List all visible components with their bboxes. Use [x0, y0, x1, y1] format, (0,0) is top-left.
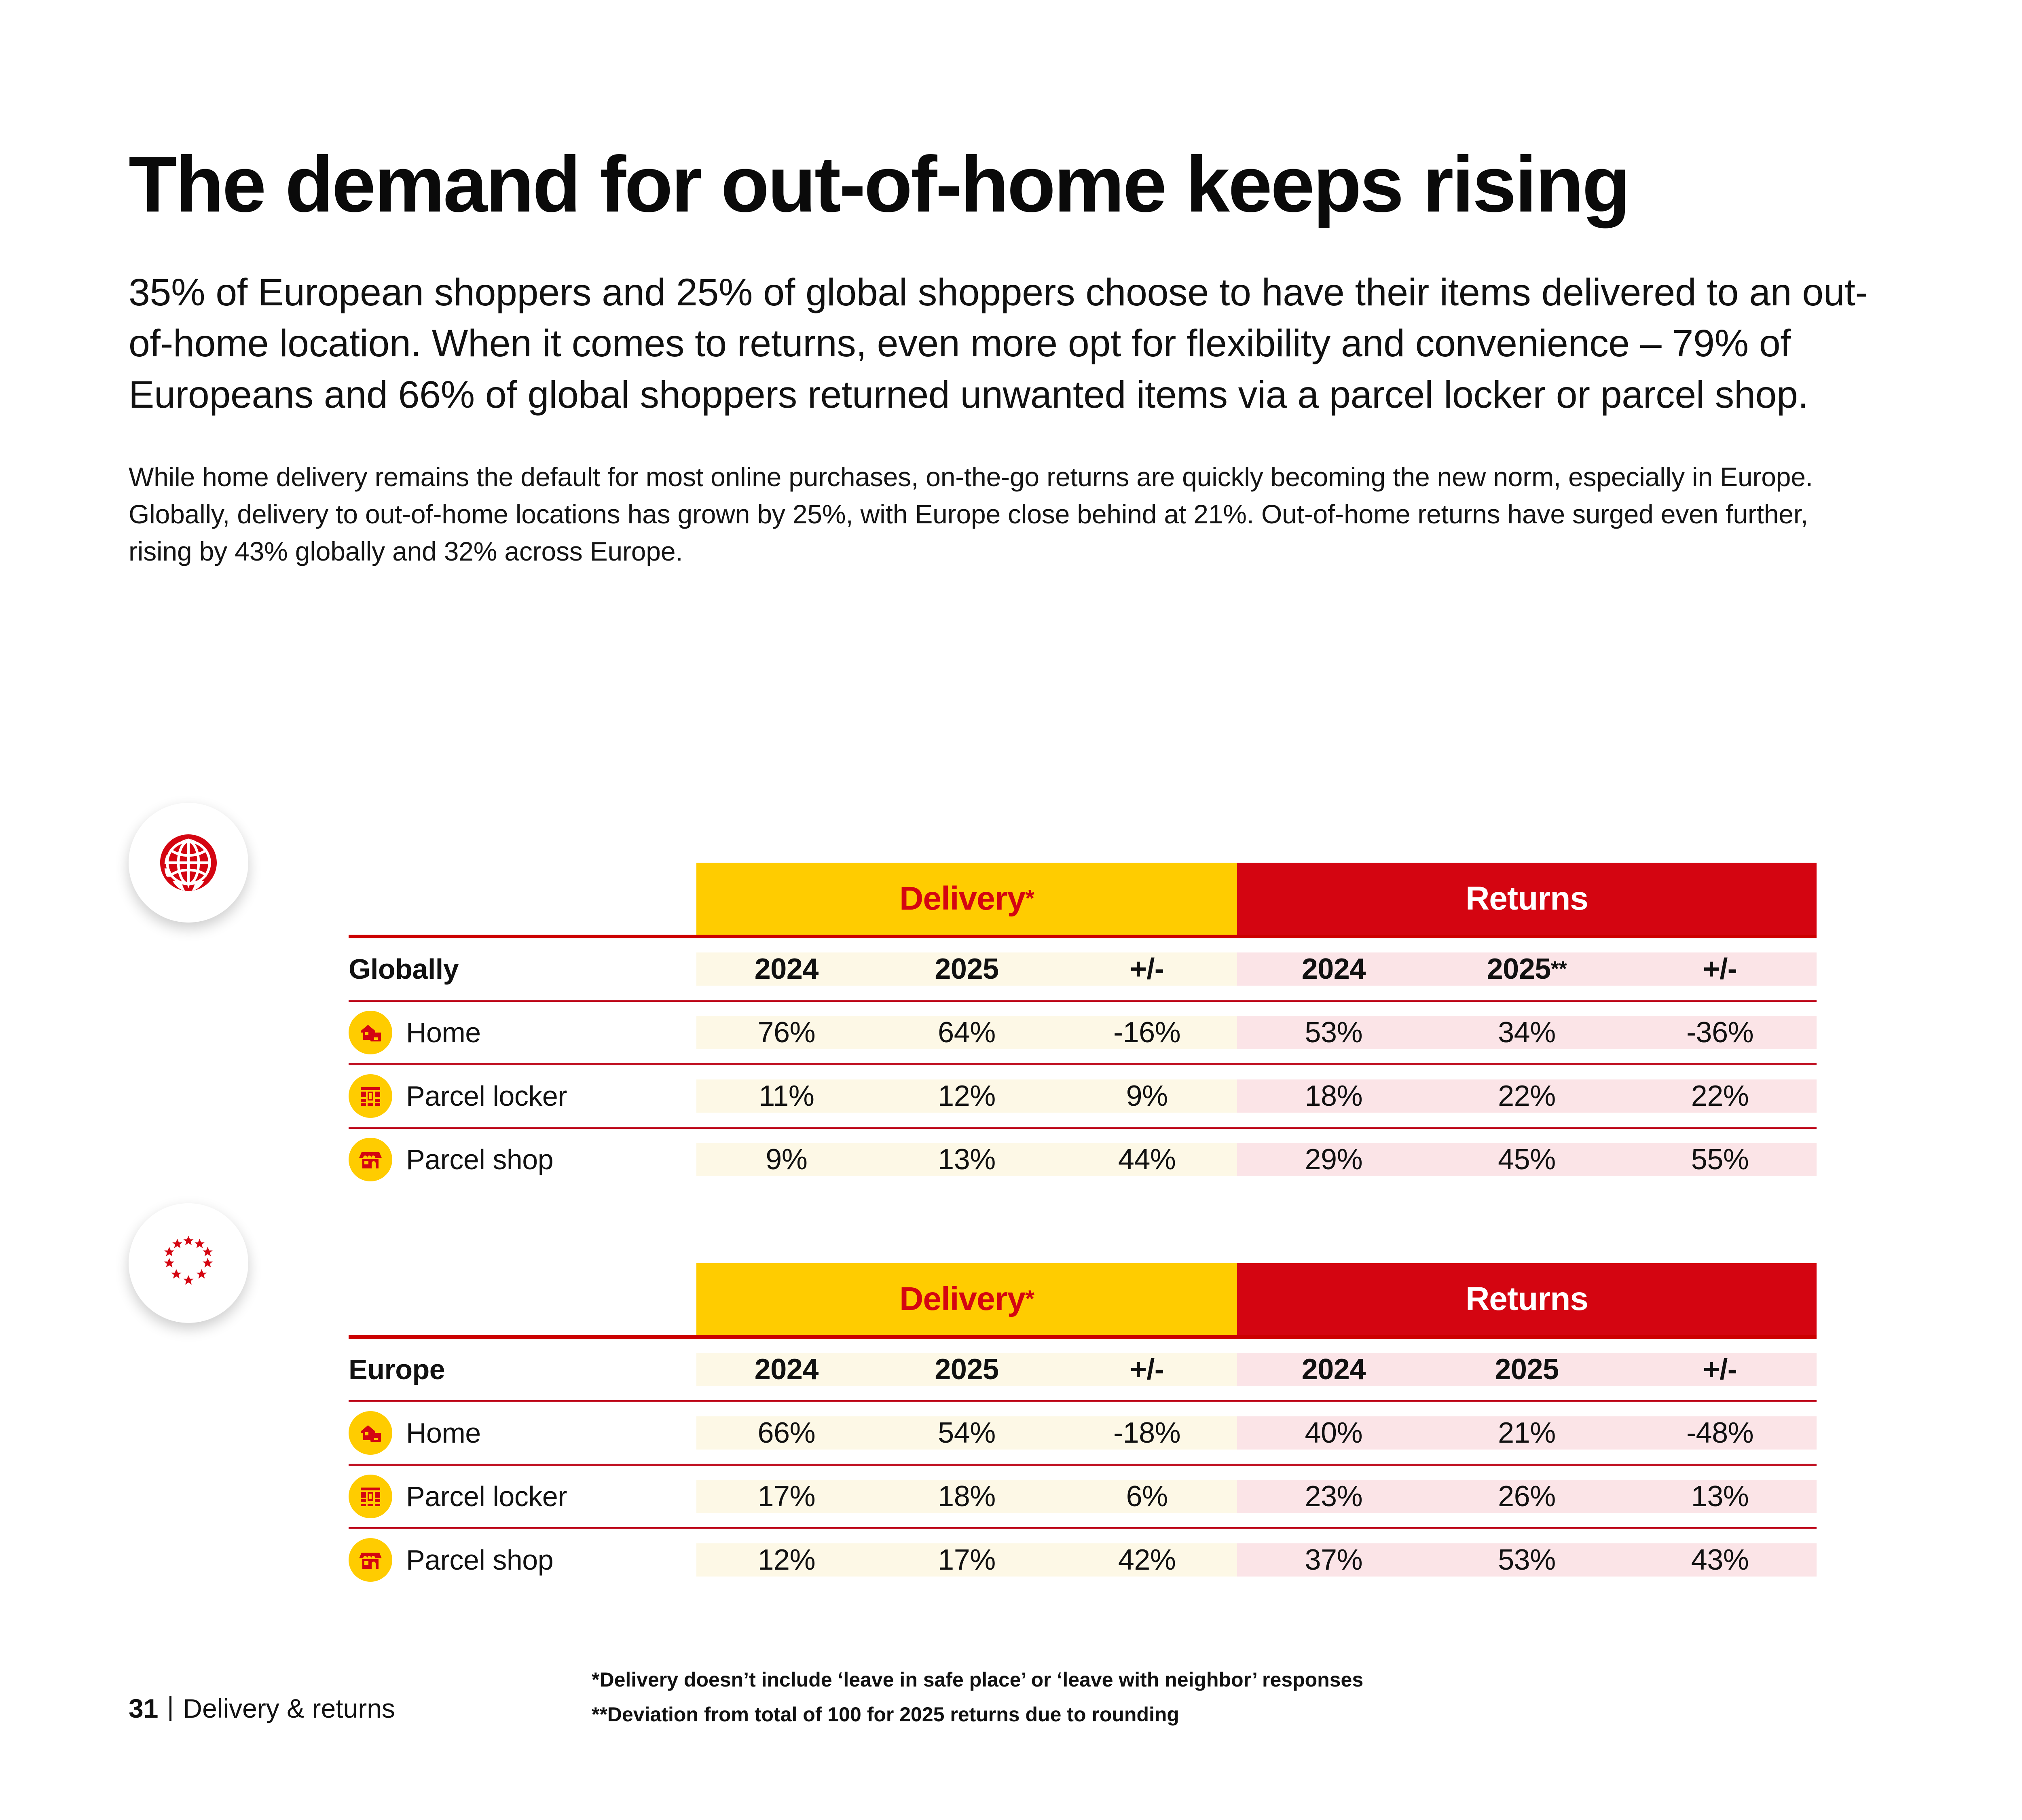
footer-divider [169, 1696, 171, 1721]
delivery-group-header: Delivery * [696, 1263, 1237, 1335]
table-region-label: Globally [349, 953, 459, 985]
left-text-block: The demand for out-of-home keeps rising … [129, 0, 2022, 597]
cell-delivery-2024: 17% [696, 1480, 877, 1513]
global-table: Delivery * Returns Globally 2024 2025 +/… [349, 863, 1817, 1190]
cell-delivery-2024: 11% [696, 1079, 877, 1113]
row-label: Home [406, 1016, 481, 1049]
col-header-delivery-delta: +/- [1057, 1353, 1237, 1386]
row-label-cell: Parcel shop [349, 1538, 696, 1582]
page-title: The demand for out-of-home keeps rising [129, 0, 2022, 224]
cell-delivery-delta: -18% [1057, 1416, 1237, 1450]
cell-returns-delta: -36% [1623, 1016, 1817, 1049]
delivery-group-label: Delivery [899, 1280, 1025, 1318]
footer-left: 31 Delivery & returns [129, 1693, 395, 1724]
cell-returns-delta: -48% [1623, 1416, 1817, 1450]
cell-returns-2024: 40% [1237, 1416, 1430, 1450]
table-group-header-spacer [349, 1263, 696, 1335]
footnote-2: **Deviation from total of 100 for 2025 r… [592, 1697, 1363, 1732]
table-column-header-row: Europe 2024 2025 +/- 2024 2025 +/- [349, 1339, 1817, 1400]
table-top-rule [349, 1335, 1817, 1339]
cell-returns-2024: 18% [1237, 1079, 1430, 1113]
table-column-header-row: Globally 2024 2025 +/- 2024 2025** +/- [349, 938, 1817, 1000]
table-region-label-cell: Europe [349, 1353, 696, 1386]
cell-returns-2025: 45% [1430, 1143, 1624, 1176]
cell-delivery-2024: 9% [696, 1143, 877, 1176]
col-header-returns-2024: 2024 [1237, 952, 1430, 986]
parcel-locker-icon [349, 1475, 392, 1518]
table-group-header-row: Delivery * Returns [349, 863, 1817, 935]
cell-delivery-2025: 13% [877, 1143, 1057, 1176]
cell-returns-delta: 13% [1623, 1480, 1817, 1513]
col-header-delivery-2025: 2025 [877, 1353, 1057, 1386]
cell-delivery-delta: -16% [1057, 1016, 1237, 1049]
row-label-cell: Home [349, 1011, 696, 1054]
row-label: Parcel locker [406, 1080, 567, 1112]
cell-returns-delta: 22% [1623, 1079, 1817, 1113]
table-row: Home 76% 64% -16% 53% 34% -36% [349, 1002, 1817, 1063]
cell-delivery-2025: 54% [877, 1416, 1057, 1450]
globe-icon [129, 803, 248, 923]
eu-stars-icon [129, 1203, 248, 1323]
table-row: Parcel locker 17% 18% 6% 23% 26% 13% [349, 1466, 1817, 1527]
row-label: Parcel locker [406, 1480, 567, 1513]
cell-delivery-delta: 9% [1057, 1079, 1237, 1113]
cell-returns-2024: 53% [1237, 1016, 1430, 1049]
table-row: Home 66% 54% -18% 40% 21% -48% [349, 1402, 1817, 1464]
footnote-1: *Delivery doesn’t include ‘leave in safe… [592, 1662, 1363, 1697]
delivery-group-header: Delivery * [696, 863, 1237, 935]
cell-returns-2025: 26% [1430, 1480, 1624, 1513]
cell-returns-2025: 34% [1430, 1016, 1624, 1049]
left-content-panel: The demand for out-of-home keeps rising … [0, 0, 2022, 1820]
col-header-returns-2024: 2024 [1237, 1353, 1430, 1386]
footer-section-label: Delivery & returns [183, 1693, 395, 1724]
table-top-rule [349, 935, 1817, 938]
page-number: 31 [129, 1693, 158, 1724]
cell-delivery-2025: 18% [877, 1480, 1057, 1513]
table-row: Parcel shop 9% 13% 44% 29% 45% 55% [349, 1129, 1817, 1190]
lede-paragraph: 35% of European shoppers and 25% of glob… [129, 267, 1904, 420]
cell-returns-2025: 21% [1430, 1416, 1624, 1450]
row-label-cell: Home [349, 1411, 696, 1455]
cell-delivery-2025: 12% [877, 1079, 1057, 1113]
col-header-returns-2025-text: 2025 [1487, 952, 1551, 986]
parcel-shop-icon [349, 1138, 392, 1181]
returns-group-header: Returns [1237, 1263, 1817, 1335]
home-parcel-icon [349, 1011, 392, 1054]
table-region-label: Europe [349, 1353, 445, 1386]
cell-delivery-delta: 6% [1057, 1480, 1237, 1513]
col-header-returns-delta: +/- [1623, 1353, 1817, 1386]
slide-page: The demand for out-of-home keeps rising … [0, 0, 2022, 1820]
row-label-cell: Parcel locker [349, 1475, 696, 1518]
row-label-cell: Parcel shop [349, 1138, 696, 1181]
cell-returns-delta: 55% [1623, 1143, 1817, 1176]
table-row: Parcel shop 12% 17% 42% 37% 53% 43% [349, 1529, 1817, 1591]
col-header-returns-2025: 2025** [1430, 952, 1624, 986]
table-group-header-row: Delivery * Returns [349, 1263, 1817, 1335]
cell-delivery-2024: 76% [696, 1016, 877, 1049]
col-header-delivery-delta: +/- [1057, 952, 1237, 986]
row-label: Parcel shop [406, 1143, 553, 1176]
cell-returns-2025: 53% [1430, 1543, 1624, 1577]
cell-delivery-delta: 44% [1057, 1143, 1237, 1176]
col-header-returns-delta: +/- [1623, 952, 1817, 986]
returns-group-label: Returns [1466, 880, 1588, 918]
col-header-delivery-2025: 2025 [877, 952, 1057, 986]
cell-delivery-2024: 12% [696, 1543, 877, 1577]
cell-returns-delta: 43% [1623, 1543, 1817, 1577]
row-label: Parcel shop [406, 1544, 553, 1576]
footnotes: *Delivery doesn’t include ‘leave in safe… [592, 1662, 1363, 1732]
europe-table: Delivery * Returns Europe 2024 2025 +/- … [349, 1263, 1817, 1591]
cell-returns-2024: 37% [1237, 1543, 1430, 1577]
delivery-group-label: Delivery [899, 880, 1025, 918]
cell-delivery-2025: 64% [877, 1016, 1057, 1049]
col-header-returns-2025: 2025 [1430, 1353, 1624, 1386]
cell-returns-2025: 22% [1430, 1079, 1624, 1113]
body-paragraph: While home delivery remains the default … [129, 459, 1859, 570]
cell-delivery-2024: 66% [696, 1416, 877, 1450]
parcel-shop-icon [349, 1538, 392, 1582]
cell-returns-2024: 23% [1237, 1480, 1430, 1513]
col-header-delivery-2024: 2024 [696, 1353, 877, 1386]
row-label: Home [406, 1417, 481, 1449]
returns-group-header: Returns [1237, 863, 1817, 935]
col-header-delivery-2024: 2024 [696, 952, 877, 986]
table-row: Parcel locker 11% 12% 9% 18% 22% 22% [349, 1065, 1817, 1127]
cell-delivery-2025: 17% [877, 1543, 1057, 1577]
table-group-header-spacer [349, 863, 696, 935]
returns-group-label: Returns [1466, 1280, 1588, 1318]
row-label-cell: Parcel locker [349, 1074, 696, 1118]
home-parcel-icon [349, 1411, 392, 1455]
parcel-locker-icon [349, 1074, 392, 1118]
cell-delivery-delta: 42% [1057, 1543, 1237, 1577]
table-region-label-cell: Globally [349, 953, 696, 985]
cell-returns-2024: 29% [1237, 1143, 1430, 1176]
